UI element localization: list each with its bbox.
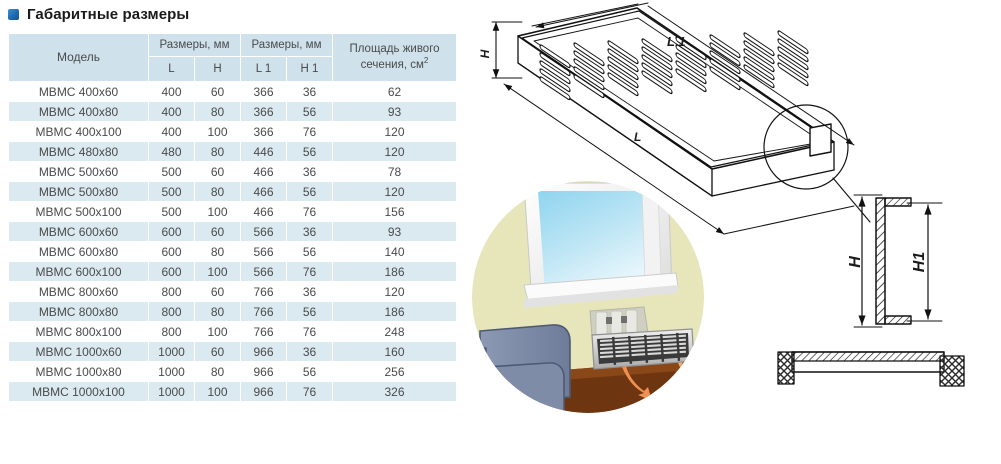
- table-body: МВМС 400х60400603663662МВМС 400х80400803…: [9, 82, 457, 402]
- cell-model: МВМС 500х80: [9, 182, 149, 202]
- header-free-area-line1: Площадь живого: [349, 43, 439, 55]
- cell-l1: 766: [241, 282, 287, 302]
- cell-h1: 36: [287, 342, 333, 362]
- cell-h: 80: [195, 242, 241, 262]
- cell-h: 60: [195, 342, 241, 362]
- cell-l1: 566: [241, 222, 287, 242]
- label-iso-length-inner: L: [634, 130, 641, 144]
- cell-l: 1000: [149, 382, 195, 402]
- cell-h1: 36: [287, 82, 333, 102]
- cell-h: 100: [195, 122, 241, 142]
- cell-area: 256: [333, 362, 457, 382]
- cell-h1: 76: [287, 122, 333, 142]
- cell-h1: 56: [287, 242, 333, 262]
- cell-l: 480: [149, 142, 195, 162]
- cell-h: 80: [195, 142, 241, 162]
- cell-model: МВМС 400х60: [9, 82, 149, 102]
- cell-l: 600: [149, 242, 195, 262]
- cell-area: 120: [333, 122, 457, 142]
- cell-area: 248: [333, 322, 457, 342]
- header-group-dimensions-2: Размеры, мм: [241, 34, 333, 57]
- cell-model: МВМС 1000х60: [9, 342, 149, 362]
- cell-l1: 766: [241, 302, 287, 322]
- cell-model: МВМС 1000х80: [9, 362, 149, 382]
- cell-l: 600: [149, 222, 195, 242]
- cell-area: 160: [333, 342, 457, 362]
- cell-l: 800: [149, 302, 195, 322]
- cell-model: МВМС 800х60: [9, 282, 149, 302]
- datasheet-page: Габаритные размеры Модель Размеры, мм Ра…: [0, 0, 1001, 464]
- header-sub-l: L: [149, 57, 195, 82]
- cell-h1: 76: [287, 322, 333, 342]
- cell-l: 400: [149, 102, 195, 122]
- table-row: МВМС 600х10060010056676186: [9, 262, 457, 282]
- cell-model: МВМС 600х80: [9, 242, 149, 262]
- table-row: МВМС 1000х8010008096656256: [9, 362, 457, 382]
- cell-area: 93: [333, 222, 457, 242]
- cell-h: 60: [195, 162, 241, 182]
- cell-l: 800: [149, 322, 195, 342]
- table-row: МВМС 500х805008046656120: [9, 182, 457, 202]
- cell-area: 186: [333, 262, 457, 282]
- cell-h1: 56: [287, 142, 333, 162]
- cell-l: 1000: [149, 342, 195, 362]
- cell-h1: 36: [287, 222, 333, 242]
- cell-l1: 766: [241, 322, 287, 342]
- table-row: МВМС 480х804808044656120: [9, 142, 457, 162]
- table-row: МВМС 400х80400803665693: [9, 102, 457, 122]
- cell-h1: 76: [287, 262, 333, 282]
- cell-l1: 466: [241, 182, 287, 202]
- cell-l1: 966: [241, 382, 287, 402]
- label-section-height: H: [847, 256, 864, 268]
- header-sub-h1: H 1: [287, 57, 333, 82]
- header-free-area: Площадь живого сечения, см2: [333, 34, 457, 82]
- header-sub-h: H: [195, 57, 241, 82]
- cell-model: МВМС 800х80: [9, 302, 149, 322]
- cell-area: 186: [333, 302, 457, 322]
- header-free-area-line2: сечения, см: [361, 59, 424, 71]
- cell-area: 78: [333, 162, 457, 182]
- table-row: МВМС 1000х6010006096636160: [9, 342, 457, 362]
- cell-model: МВМС 500х100: [9, 202, 149, 222]
- cell-area: 120: [333, 282, 457, 302]
- cell-h: 80: [195, 362, 241, 382]
- cell-h: 80: [195, 302, 241, 322]
- cell-area: 93: [333, 102, 457, 122]
- cell-h: 100: [195, 382, 241, 402]
- table-row: МВМС 500х60500604663678: [9, 162, 457, 182]
- cell-area: 120: [333, 182, 457, 202]
- cell-model: МВМС 500х60: [9, 162, 149, 182]
- cell-model: МВМС 600х60: [9, 222, 149, 242]
- dimensions-table-wrapper: Модель Размеры, мм Размеры, мм Площадь ж…: [8, 33, 456, 402]
- table-row: МВМС 400х10040010036676120: [9, 122, 457, 142]
- table-row: МВМС 800х10080010076676248: [9, 322, 457, 342]
- cell-area: 140: [333, 242, 457, 262]
- cell-h1: 36: [287, 282, 333, 302]
- cell-h: 80: [195, 102, 241, 122]
- cell-l1: 966: [241, 342, 287, 362]
- cell-model: МВМС 600х100: [9, 262, 149, 282]
- cell-model: МВМС 1000х100: [9, 382, 149, 402]
- cell-model: МВМС 400х100: [9, 122, 149, 142]
- cell-h1: 56: [287, 362, 333, 382]
- cell-l1: 466: [241, 202, 287, 222]
- cell-l1: 446: [241, 142, 287, 162]
- table-row: МВМС 400х60400603663662: [9, 82, 457, 102]
- cell-l: 400: [149, 122, 195, 142]
- header-sub-l1: L 1: [241, 57, 287, 82]
- header-model: Модель: [9, 34, 149, 82]
- cell-area: 62: [333, 82, 457, 102]
- bullet-square-icon: [8, 9, 19, 20]
- cell-l1: 566: [241, 262, 287, 282]
- installation-photo: [472, 181, 704, 413]
- label-section-height-inner: H1: [911, 252, 928, 273]
- cell-h: 60: [195, 282, 241, 302]
- table-row: МВМС 800х808008076656186: [9, 302, 457, 322]
- table-row: МВМС 600х806008056656140: [9, 242, 457, 262]
- cell-l1: 966: [241, 362, 287, 382]
- cell-l: 800: [149, 282, 195, 302]
- cell-l: 500: [149, 182, 195, 202]
- cell-h: 60: [195, 82, 241, 102]
- cell-model: МВМС 800х100: [9, 322, 149, 342]
- table-row: МВМС 600х60600605663693: [9, 222, 457, 242]
- section-heading: Габаритные размеры: [8, 6, 189, 23]
- header-free-area-superscript: 2: [424, 56, 428, 65]
- cell-l: 500: [149, 162, 195, 182]
- section-title: Габаритные размеры: [27, 6, 189, 23]
- cell-area: 120: [333, 142, 457, 162]
- cell-l: 500: [149, 202, 195, 222]
- cell-l1: 466: [241, 162, 287, 182]
- cell-model: МВМС 400х80: [9, 102, 149, 122]
- cell-l: 600: [149, 262, 195, 282]
- cell-l1: 366: [241, 82, 287, 102]
- cell-h: 100: [195, 262, 241, 282]
- cell-h1: 36: [287, 162, 333, 182]
- dimensions-table: Модель Размеры, мм Размеры, мм Площадь ж…: [8, 33, 457, 402]
- cell-h: 100: [195, 322, 241, 342]
- cell-h: 100: [195, 202, 241, 222]
- cell-h1: 56: [287, 182, 333, 202]
- cell-h: 60: [195, 222, 241, 242]
- cell-l: 400: [149, 82, 195, 102]
- table-header-row-1: Модель Размеры, мм Размеры, мм Площадь ж…: [9, 34, 457, 57]
- cell-h1: 56: [287, 102, 333, 122]
- label-iso-height: H: [478, 49, 492, 58]
- cell-h1: 76: [287, 202, 333, 222]
- cell-area: 156: [333, 202, 457, 222]
- cell-l: 1000: [149, 362, 195, 382]
- cell-h: 80: [195, 182, 241, 202]
- cell-area: 326: [333, 382, 457, 402]
- cell-l1: 566: [241, 242, 287, 262]
- label-iso-length-outer: L 1: [667, 34, 686, 49]
- cell-h1: 76: [287, 382, 333, 402]
- header-group-dimensions-1: Размеры, мм: [149, 34, 241, 57]
- cell-h1: 56: [287, 302, 333, 322]
- table-row: МВМС 1000х100100010096676326: [9, 382, 457, 402]
- cell-model: МВМС 480х80: [9, 142, 149, 162]
- table-header: Модель Размеры, мм Размеры, мм Площадь ж…: [9, 34, 457, 82]
- table-row: МВМС 500х10050010046676156: [9, 202, 457, 222]
- cell-l1: 366: [241, 122, 287, 142]
- table-row: МВМС 800х608006076636120: [9, 282, 457, 302]
- cell-l1: 366: [241, 102, 287, 122]
